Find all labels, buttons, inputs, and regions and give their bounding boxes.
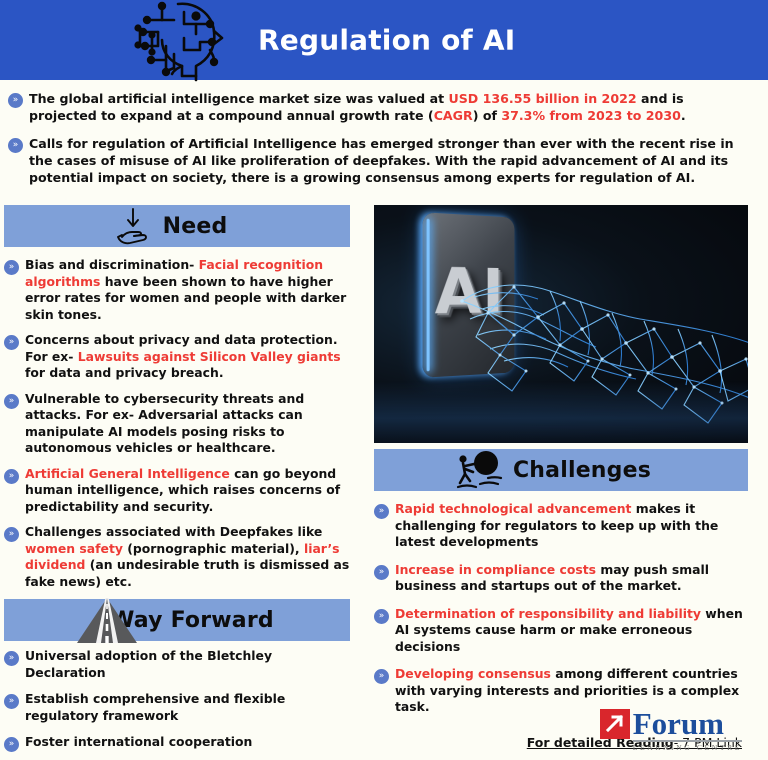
highlighted-text: women safety	[25, 541, 123, 556]
way-forward-bullet-list: » Universal adoption of the Bletchley De…	[0, 641, 368, 760]
way-forward-bullet-3: » Foster international cooperation	[4, 734, 350, 752]
need-bullet-5-text: Challenges associated with Deepfakes lik…	[25, 524, 350, 590]
need-bullet-3: » Vulnerable to cybersecurity threats an…	[4, 391, 350, 457]
body-text: Challenges associated with Deepfakes lik…	[25, 524, 322, 539]
need-bullet-1: » Bias and discrimination- Facial recogn…	[4, 257, 350, 323]
chevron-bullet-icon: »	[4, 694, 19, 709]
ai-hand-illustration: AI	[374, 205, 748, 443]
body-text: Calls for regulation of Artificial Intel…	[29, 136, 734, 185]
chevron-bullet-icon: »	[374, 504, 389, 519]
need-bullet-2: » Concerns about privacy and data protec…	[4, 332, 350, 382]
left-column: Need » Bias and discrimination- Facial r…	[0, 201, 368, 760]
challenges-bullet-3-text: Determination of responsibility and liab…	[395, 606, 746, 656]
logo-tagline: LEARNING CENTRE	[633, 740, 742, 752]
arrow-up-right-icon	[600, 709, 630, 739]
challenges-bullet-list: » Rapid technological advancement makes …	[368, 491, 768, 716]
hand-with-down-arrow-icon	[112, 205, 154, 247]
highlighted-text: Increase in compliance costs	[395, 562, 596, 577]
challenges-section-header: Challenges	[374, 449, 748, 491]
body-text: Vulnerable to cybersecurity threats and …	[25, 391, 304, 456]
need-bullet-1-text: Bias and discrimination- Facial recognit…	[25, 257, 350, 323]
body-text: Establish comprehensive and flexible reg…	[25, 691, 285, 723]
highlighted-text: USD 136.55 billion in 2022	[448, 91, 636, 106]
chevron-bullet-icon: »	[4, 335, 19, 350]
intro-bullet-1-text: The global artificial intelligence marke…	[29, 90, 754, 124]
body-text: for data and privacy breach.	[25, 365, 224, 380]
highlighted-text: Determination of responsibility and liab…	[395, 606, 701, 621]
chevron-bullet-icon: »	[4, 737, 19, 752]
chevron-bullet-icon: »	[8, 93, 23, 108]
way-forward-section-header: Way Forward	[4, 599, 350, 641]
way-forward-bullet-3-text: Foster international cooperation	[25, 734, 350, 751]
intro-bullet-2-text: Calls for regulation of Artificial Intel…	[29, 135, 754, 186]
person-pushing-boulder-icon	[452, 448, 508, 492]
need-bullet-list: » Bias and discrimination- Facial recogn…	[0, 247, 368, 590]
need-bullet-4: » Artificial General Intelligence can go…	[4, 466, 350, 516]
body-text: Foster international cooperation	[25, 734, 252, 749]
need-bullet-3-text: Vulnerable to cybersecurity threats and …	[25, 391, 350, 457]
highlighted-text: Artificial General Intelligence	[25, 466, 230, 481]
way-forward-bullet-1: » Universal adoption of the Bletchley De…	[4, 648, 350, 681]
need-section-header: Need	[4, 205, 350, 247]
highlighted-text: CAGR	[434, 108, 473, 123]
page-header: Regulation of AI	[0, 0, 768, 80]
chevron-bullet-icon: »	[4, 394, 19, 409]
logo-top-row: Forum	[600, 709, 724, 739]
challenges-bullet-3: » Determination of responsibility and li…	[374, 606, 746, 656]
need-section-title: Need	[163, 214, 228, 239]
challenges-section-title: Challenges	[513, 458, 651, 483]
infographic-page: Regulation of AI » The global artificial…	[0, 0, 768, 760]
chevron-bullet-icon: »	[4, 527, 19, 542]
way-forward-bullet-2: » Establish comprehensive and flexible r…	[4, 691, 350, 724]
chevron-bullet-icon: »	[4, 469, 19, 484]
highlighted-text: Developing consensus	[395, 666, 551, 681]
highlighted-text: Lawsuits against Silicon Valley giants	[78, 349, 341, 364]
highlighted-text: Rapid technological advancement	[395, 501, 631, 516]
forum-learning-centre-logo: Forum LEARNING CENTRE	[600, 709, 742, 752]
challenges-bullet-1: » Rapid technological advancement makes …	[374, 501, 746, 551]
way-forward-bullet-1-text: Universal adoption of the Bletchley Decl…	[25, 648, 350, 681]
chevron-bullet-icon: »	[374, 565, 389, 580]
need-bullet-2-text: Concerns about privacy and data protecti…	[25, 332, 350, 382]
need-bullet-5: » Challenges associated with Deepfakes l…	[4, 524, 350, 590]
way-forward-bullet-2-text: Establish comprehensive and flexible reg…	[25, 691, 350, 724]
intro-bullets: » The global artificial intelligence mar…	[0, 80, 768, 201]
page-title: Regulation of AI	[258, 24, 515, 57]
body-text: Universal adoption of the Bletchley Decl…	[25, 648, 272, 680]
chevron-bullet-icon: »	[4, 651, 19, 666]
chevron-bullet-icon: »	[374, 669, 389, 684]
need-bullet-4-text: Artificial General Intelligence can go b…	[25, 466, 350, 516]
logo-wordmark: Forum	[633, 709, 724, 739]
road-highway-icon	[66, 595, 148, 645]
challenges-bullet-2: » Increase in compliance costs may push …	[374, 562, 746, 595]
body-text: .	[681, 108, 686, 123]
ai-brain-circuit-icon	[122, 0, 232, 82]
body-text: ) of	[473, 108, 502, 123]
challenges-bullet-1-text: Rapid technological advancement makes it…	[395, 501, 746, 551]
chevron-bullet-icon: »	[8, 138, 23, 153]
intro-bullet-2: » Calls for regulation of Artificial Int…	[8, 135, 754, 186]
body-text: The global artificial intelligence marke…	[29, 91, 448, 106]
chevron-bullet-icon: »	[4, 260, 19, 275]
image-reflection-glow	[374, 381, 748, 443]
challenges-bullet-2-text: Increase in compliance costs may push sm…	[395, 562, 746, 595]
highlighted-text: 37.3% from 2023 to 2030	[501, 108, 680, 123]
body-text: (pornographic material),	[123, 541, 304, 556]
body-text: Bias and discrimination-	[25, 257, 199, 272]
content-columns: Need » Bias and discrimination- Facial r…	[0, 201, 768, 760]
intro-bullet-1: » The global artificial intelligence mar…	[8, 90, 754, 124]
right-column: AI	[368, 201, 768, 750]
chevron-bullet-icon: »	[374, 609, 389, 624]
